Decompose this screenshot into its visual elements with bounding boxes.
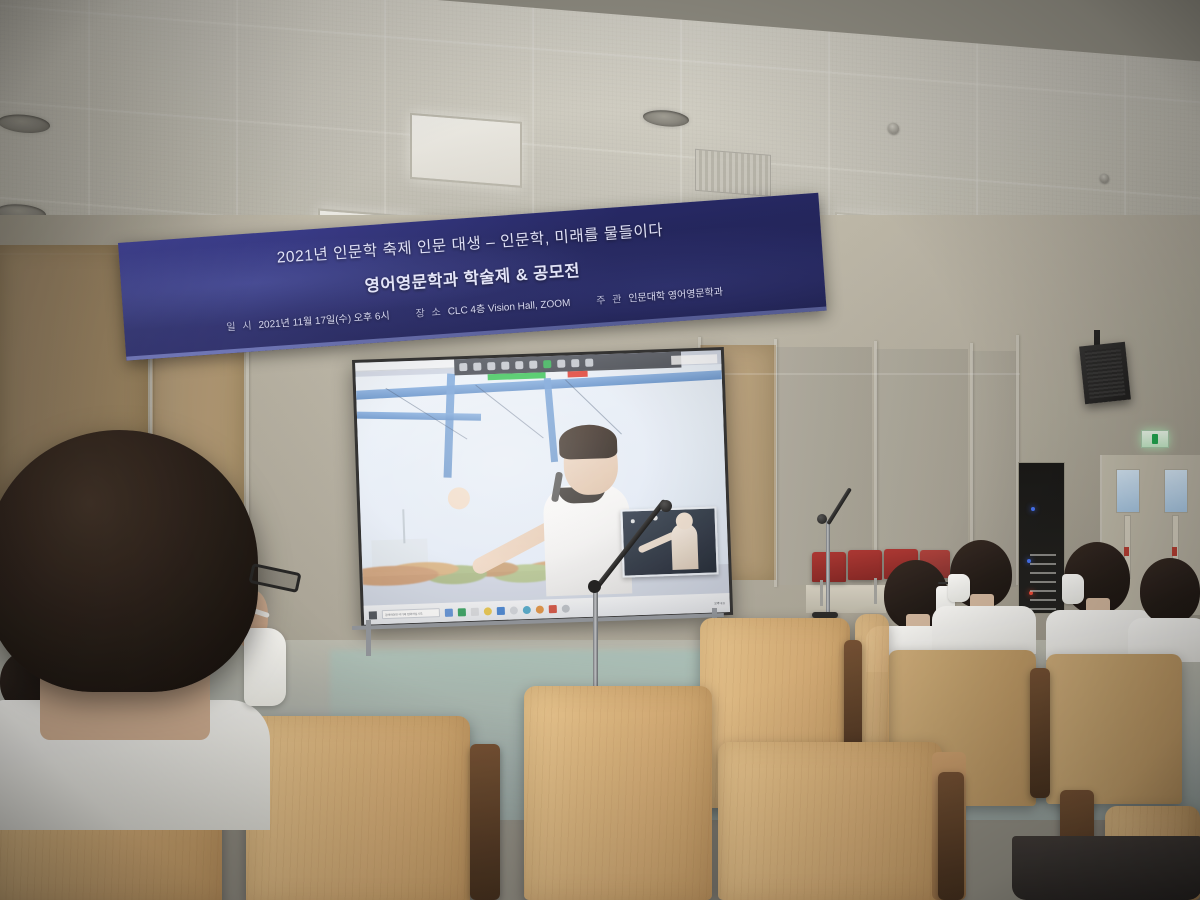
mic-stand-pole: [826, 520, 830, 616]
taskbar-app-icon[interactable]: [549, 605, 557, 613]
door-window: [1116, 469, 1140, 513]
auditorium-seat[interactable]: [524, 686, 712, 900]
taskbar-app-icon[interactable]: [445, 608, 453, 616]
taskbar-app-icon[interactable]: [484, 607, 492, 615]
end-meeting-icon[interactable]: [585, 359, 593, 367]
projection-screen-frame: 검색하려면 여기에 입력하십시오. 오후 6:0: [352, 347, 733, 628]
auditorium-seat[interactable]: [1046, 654, 1182, 804]
windows-start-icon[interactable]: [369, 611, 377, 619]
chair-leg: [820, 580, 823, 606]
taskbar-app-icon[interactable]: [471, 607, 479, 615]
zoom-view-button[interactable]: [671, 354, 717, 365]
taskbar-clock[interactable]: 오후 6:0: [714, 601, 725, 605]
taskbar-app-icon[interactable]: [497, 606, 505, 614]
record-icon[interactable]: [543, 360, 551, 368]
banner-place-label: 장 소: [415, 307, 443, 320]
seat-armrest: [938, 772, 964, 900]
taskbar-app-icon[interactable]: [562, 604, 570, 612]
door-bar-marker: [1172, 547, 1177, 556]
taskbar-app-icon[interactable]: [458, 608, 466, 616]
browser-url-bar: [355, 359, 454, 371]
slide-performer-hair: [559, 424, 618, 460]
door-bar-marker: [1124, 547, 1129, 556]
seat-armrest: [470, 744, 500, 900]
share-screen-icon[interactable]: [529, 361, 537, 369]
exit-sign-icon: [1141, 430, 1169, 448]
person-head: [1140, 558, 1200, 624]
auditorium-seat[interactable]: [246, 716, 470, 900]
microphone-icon[interactable]: [459, 363, 467, 371]
pip-performer-body: [671, 523, 699, 570]
mic-boom-clamp: [588, 580, 601, 593]
share-status-stop[interactable]: [567, 371, 587, 378]
face-mask: [1062, 574, 1084, 604]
banner-date-value: 2021년 11월 17일(수) 오후 6시: [258, 311, 390, 331]
banner-host-value: 인문대학 영어영문학과: [628, 287, 723, 305]
face-mask: [948, 574, 970, 602]
share-status-pause[interactable]: [545, 371, 567, 378]
microphone-icon: [660, 500, 672, 512]
reactions-icon[interactable]: [557, 360, 565, 368]
auditorium-seat[interactable]: [718, 742, 942, 900]
banner-place: 장 소CLC 4층 Vision Hall, ZOOM: [415, 294, 571, 320]
taskbar-search-input[interactable]: 검색하려면 여기에 입력하십시오.: [382, 608, 440, 619]
banner-place-value: CLC 4층 Vision Hall, ZOOM: [447, 298, 570, 318]
banner-date-label: 일 시: [226, 321, 254, 334]
chat-icon[interactable]: [515, 361, 523, 369]
running-man-icon: [1152, 434, 1158, 444]
microphone-icon: [817, 514, 827, 524]
pa-speaker-icon: [1079, 342, 1131, 404]
taskbar-app-icon[interactable]: [523, 605, 531, 613]
equipment-cart: [1030, 548, 1056, 610]
indicator-led-blue: [1031, 507, 1035, 511]
stage-chair-red: [848, 550, 882, 580]
banner-host: 주 관인문대학 영어영문학과: [596, 283, 724, 307]
taskbar-app-icon[interactable]: [510, 606, 518, 614]
video-camera-icon[interactable]: [473, 363, 481, 371]
speaker-grille: [1085, 347, 1126, 399]
door-window: [1164, 469, 1188, 513]
banner-host-label: 주 관: [596, 294, 624, 307]
projection-screen: 검색하려면 여기에 입력하십시오. 오후 6:0: [355, 350, 730, 625]
person-shoulders: [932, 606, 1036, 654]
stage-light-icon: [631, 519, 635, 523]
chair-leg: [874, 578, 877, 604]
participants-icon[interactable]: [501, 362, 509, 370]
foreground-face-mask: [244, 628, 286, 706]
auditorium-photo: 2021년 인문학 축제 인문 대생 – 인문학, 미래를 물들이다 영어영문학…: [0, 0, 1200, 900]
shield-icon[interactable]: [487, 362, 495, 370]
banner-date: 일 시2021년 11월 17일(수) 오후 6시: [226, 307, 390, 334]
seat-armrest: [1030, 668, 1050, 798]
taskbar-app-icon[interactable]: [536, 605, 544, 613]
seat-cushion: [1012, 836, 1200, 900]
whiteboard-icon[interactable]: [571, 359, 579, 367]
